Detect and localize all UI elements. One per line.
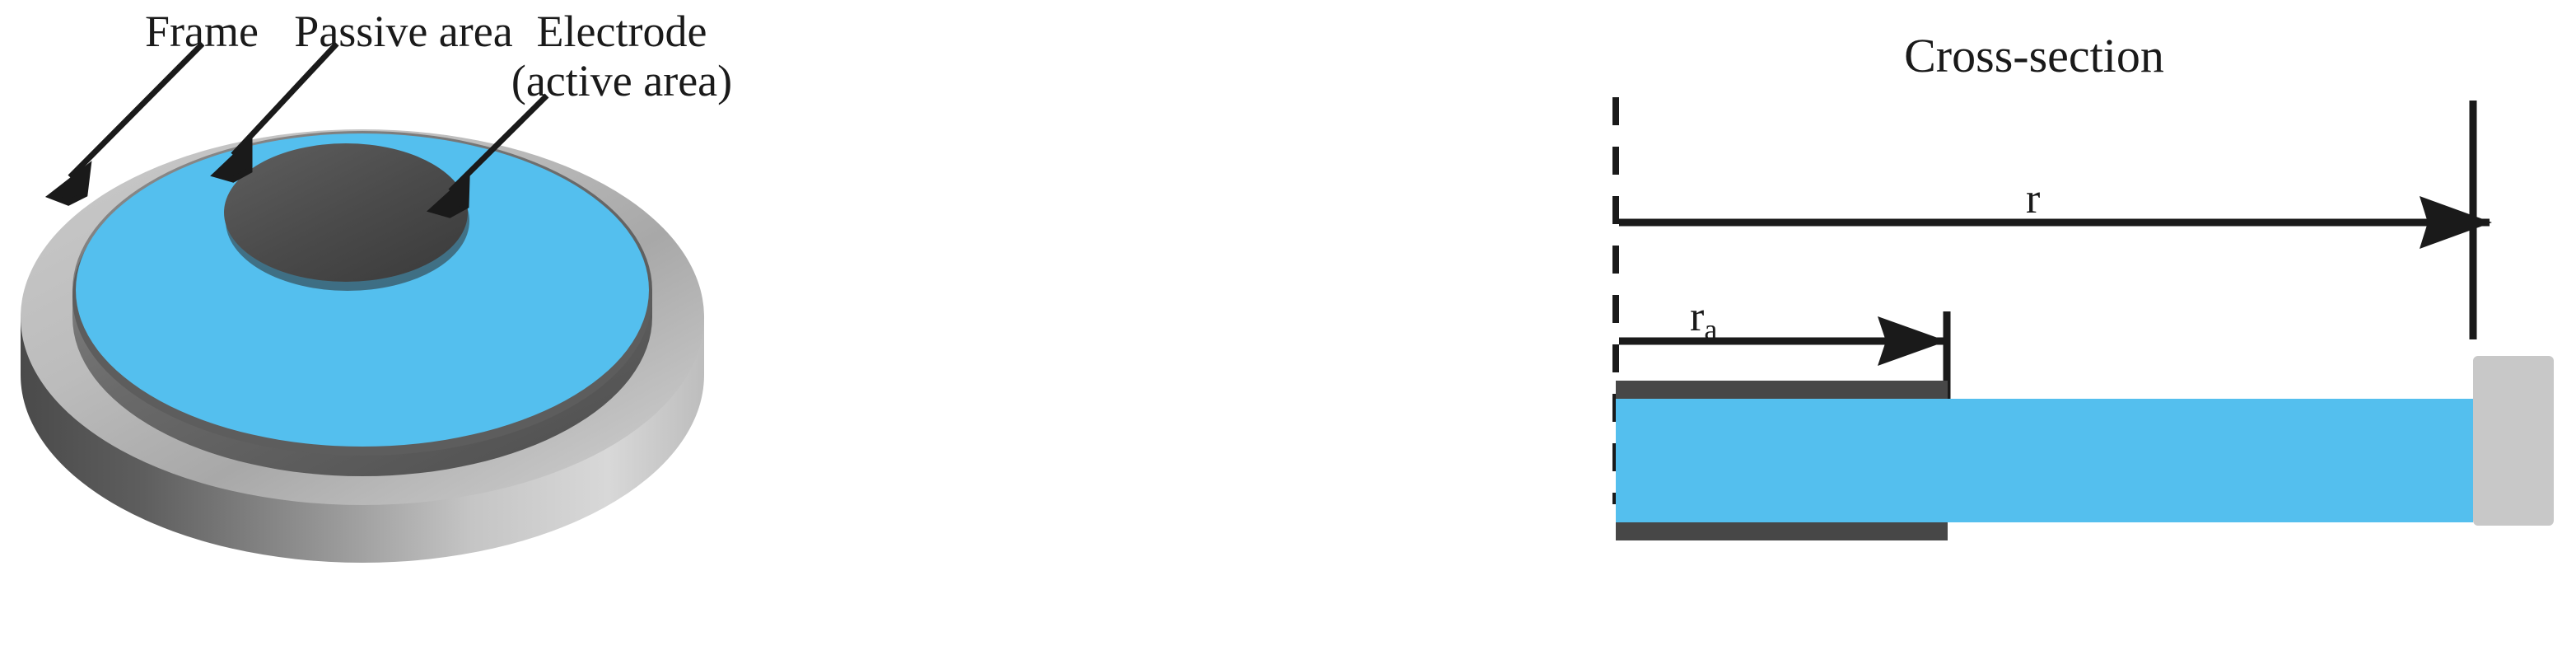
frame-block xyxy=(2473,356,2554,526)
label-electrode-active-area: (active area) xyxy=(449,58,795,105)
dimension-label-ra-subscript: a xyxy=(1704,313,1717,346)
membrane-layer xyxy=(1616,399,2473,522)
dimension-label-r: r xyxy=(2026,175,2040,223)
electrode-active-area xyxy=(224,143,469,291)
label-electrode: Electrode xyxy=(449,8,795,55)
figure-root: Frame Passive area Electrode (active are… xyxy=(0,0,2576,669)
top-electrode-layer xyxy=(1616,381,1948,399)
bottom-electrode-layer xyxy=(1616,522,1948,540)
dimension-label-ra: ra xyxy=(1690,292,1717,347)
dimension-r xyxy=(1619,101,2492,339)
